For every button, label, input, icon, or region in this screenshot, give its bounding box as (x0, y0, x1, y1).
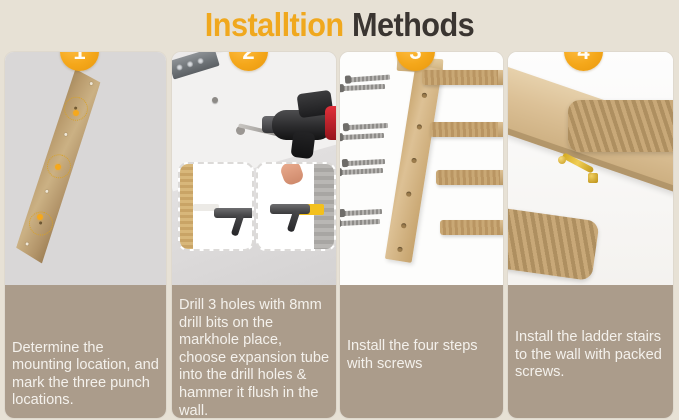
ladder-step (436, 170, 503, 185)
board-hole (89, 82, 93, 86)
inset-expansion-tube (178, 162, 254, 251)
step-card-2: 2 Drill 3 holes with 8mm drill bits on t… (172, 52, 336, 418)
ladder-step (440, 220, 503, 235)
gold-screw-head (558, 156, 566, 164)
page-title: Installtion Methods (24, 2, 655, 48)
step-card-1: 1 Determine the mounting location, and m… (5, 52, 166, 418)
step-card-3: 3 Install the four steps with screws (340, 52, 503, 418)
board-hole (64, 133, 68, 137)
screw-graphic (350, 75, 390, 83)
marker-dot (37, 214, 43, 220)
page-title-highlight: Installtion (205, 6, 344, 44)
screw-graphic (343, 84, 385, 91)
step-caption-4: Install the ladder stairs to the wall wi… (508, 285, 673, 418)
steps-panel-strip: 1 Determine the mounting location, and m… (0, 52, 679, 420)
wood-layer (180, 164, 193, 249)
drill-battery (325, 106, 336, 140)
page-title-rest: Methods (352, 6, 474, 44)
board-hole (25, 242, 29, 246)
screw-graphic (340, 219, 380, 226)
sisal-step-closeup (568, 100, 673, 152)
step-2-illustration (172, 52, 336, 285)
step-4-illustration (508, 52, 673, 285)
drill-grip (290, 131, 315, 159)
step-3-illustration (340, 52, 503, 285)
installation-methods-infographic: Installtion Methods (0, 0, 679, 420)
step-caption-2: Drill 3 holes with 8mm drill bits on the… (172, 285, 336, 418)
ladder-rail (385, 65, 442, 263)
screw-graphic (347, 159, 385, 166)
marker-dot (73, 110, 79, 116)
board-hole (45, 190, 49, 194)
screw-graphic (344, 209, 382, 216)
inset-hammer-flush (256, 162, 336, 251)
ladder-step (430, 122, 503, 137)
hammer-graphic (270, 196, 314, 228)
hammer-graphic (214, 200, 254, 232)
step-caption-1: Determine the mounting location, and mar… (5, 285, 166, 418)
screw-graphic (341, 168, 383, 175)
screw-graphic (348, 123, 388, 130)
hand-graphic (279, 162, 305, 187)
marker-dot (55, 164, 61, 170)
step-caption-3: Install the four steps with screws (340, 285, 503, 418)
screw-graphic (342, 133, 384, 140)
ladder-step (422, 70, 503, 85)
drilled-hole (212, 97, 218, 103)
power-drill-graphic (270, 92, 336, 154)
step-card-4: 4 Install the ladder stairs to the wall … (508, 52, 673, 418)
step-1-illustration (5, 52, 166, 285)
gold-screw-nut (588, 173, 598, 183)
